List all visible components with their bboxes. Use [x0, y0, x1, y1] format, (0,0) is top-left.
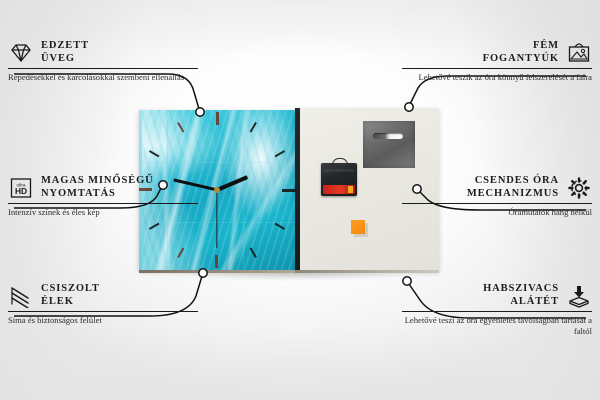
metal-hanger-plate	[363, 121, 415, 168]
callout-title: EDZETTÜVEG	[41, 40, 89, 65]
foam-pad-icon	[566, 284, 592, 308]
callout-rule	[402, 203, 592, 204]
callout-metal-handles[interactable]: FÉMFOGANTYÚK Lehetővé teszik az óra könn…	[402, 40, 592, 83]
callout-rule	[8, 203, 198, 204]
callout-rule	[402, 311, 592, 312]
callout-rule	[8, 68, 198, 69]
callout-header: CSENDES ÓRAMECHANIZMUS	[402, 175, 592, 200]
callout-rule	[8, 311, 198, 312]
infographic-canvas: EDZETTÜVEG Repedésekkel és karcolásokkal…	[0, 0, 600, 400]
polished-edges-icon	[8, 284, 34, 308]
panel-bottom-edge	[295, 270, 439, 273]
foam-pad	[351, 220, 365, 234]
callout-description: Intenzív színek és éles kép	[8, 207, 198, 218]
callout-title: CSENDES ÓRAMECHANIZMUS	[467, 175, 559, 200]
callout-title: MAGAS MINŐSÉGŰNYOMTATÁS	[41, 175, 154, 200]
callout-header: ultra HD MAGAS MINŐSÉGŰNYOMTATÁS	[8, 175, 198, 200]
callout-title: HABSZIVACSALÁTÉT	[483, 283, 559, 308]
svg-text:HD: HD	[15, 186, 27, 196]
callout-header: HABSZIVACSALÁTÉT	[402, 283, 592, 308]
mechanism-ridge	[324, 169, 354, 172]
callout-tempered-glass[interactable]: EDZETTÜVEG Repedésekkel és karcolásokkal…	[8, 40, 198, 83]
panel-side-edge	[295, 108, 300, 271]
callout-polished-edges[interactable]: CSISZOLTÉLEK Sima és biztonságos felület	[8, 283, 198, 326]
callout-high-quality-print[interactable]: ultra HD MAGAS MINŐSÉGŰNYOMTATÁS Intenzí…	[8, 175, 198, 218]
callout-header: FÉMFOGANTYÚK	[402, 40, 592, 65]
callout-description: Óramutatók hang nélkül	[402, 207, 592, 218]
clock-mechanism	[321, 163, 357, 196]
callout-header: EDZETTÜVEG	[8, 40, 198, 65]
callout-description: Lehetővé teszik az óra könnyű felszerelé…	[402, 72, 592, 83]
glass-bottom-edge	[139, 270, 295, 273]
mechanism-hook	[332, 158, 348, 167]
callout-header: CSISZOLTÉLEK	[8, 283, 198, 308]
callout-foam-pad[interactable]: HABSZIVACSALÁTÉT Lehetővé teszi az óra e…	[402, 283, 592, 336]
picture-hanger-icon	[566, 41, 592, 65]
diamond-icon	[8, 41, 34, 65]
callout-title: CSISZOLTÉLEK	[41, 283, 100, 308]
hanger-slot	[373, 133, 403, 139]
callout-silent-mechanism[interactable]: CSENDES ÓRAMECHANIZMUS Óramutatók hang n…	[402, 175, 592, 218]
gear-icon	[566, 176, 592, 200]
callout-description: Sima és biztonságos felület	[8, 315, 198, 326]
callout-title: FÉMFOGANTYÚK	[483, 40, 559, 65]
callout-rule	[402, 68, 592, 69]
callout-description: Lehetővé teszi az óra egyenletes távolsá…	[402, 315, 592, 336]
ultra-hd-icon: ultra HD	[8, 176, 34, 200]
battery	[323, 185, 355, 194]
clock-center-cap	[214, 187, 220, 193]
callout-description: Repedésekkel és karcolásokkal szembeni e…	[8, 72, 198, 83]
